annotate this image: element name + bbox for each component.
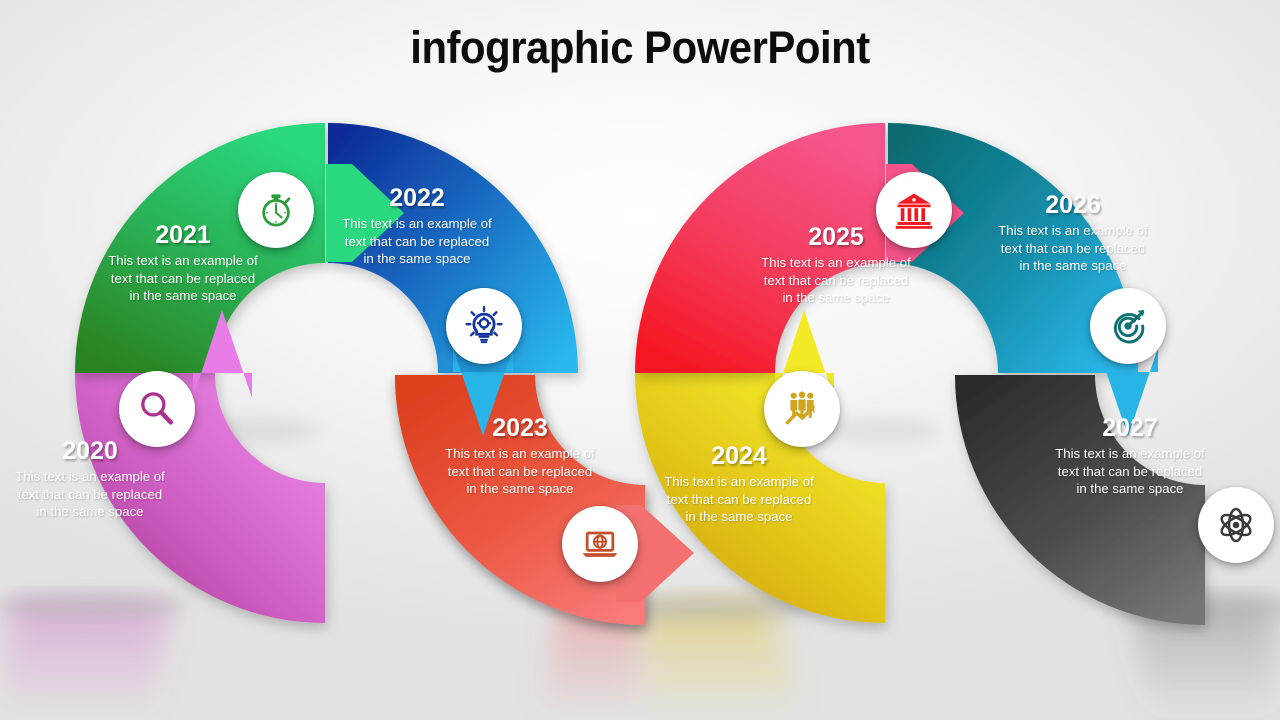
icon-bubble-2023[interactable]: [562, 506, 638, 582]
icon-bubble-2025[interactable]: [876, 172, 952, 248]
segment-arc-2025[interactable]: [635, 123, 885, 373]
segment-arc-2020[interactable]: [75, 373, 325, 623]
icon-bubble-2022[interactable]: [446, 288, 522, 364]
segment-arc-2024[interactable]: [635, 373, 885, 623]
icon-bubble-2027[interactable]: [1198, 487, 1274, 563]
stopwatch-icon: [254, 188, 298, 232]
target-icon: [1106, 304, 1150, 348]
icon-bubble-2024[interactable]: [764, 371, 840, 447]
wave-timeline-graphic: [0, 0, 1280, 720]
icon-bubble-2020[interactable]: [119, 371, 195, 447]
people-growth-icon: [780, 387, 824, 431]
atom-icon: [1214, 503, 1258, 547]
laptop-globe-icon: [578, 522, 622, 566]
icon-bubble-2021[interactable]: [238, 172, 314, 248]
segment-arc-2021[interactable]: [75, 123, 325, 373]
bank-icon: [892, 188, 936, 232]
lightbulb-gear-icon: [462, 304, 506, 348]
magnifier-icon: [135, 387, 179, 431]
infographic-slide: infographic PowerPoint: [0, 0, 1280, 720]
segment-arc-2027[interactable]: [955, 375, 1205, 625]
icon-bubble-2026[interactable]: [1090, 288, 1166, 364]
segment-arc-2023-body[interactable]: [395, 375, 645, 625]
